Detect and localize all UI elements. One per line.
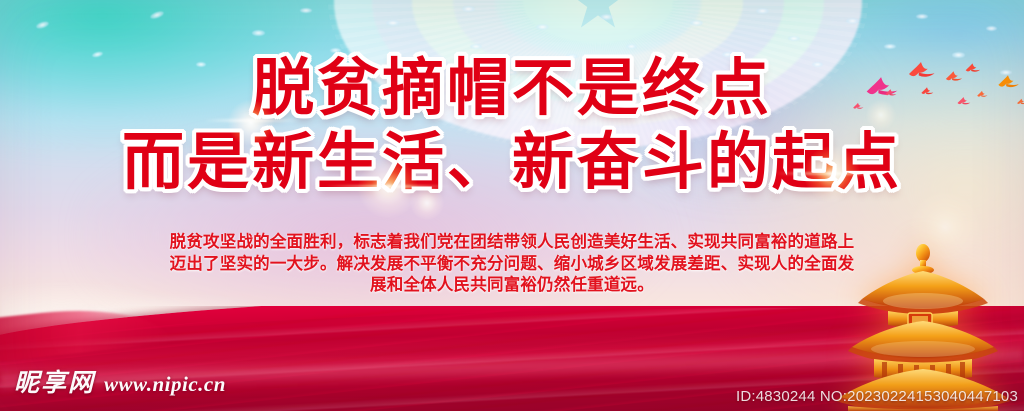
image-id-tag: ID:4830244 NO:20230224153040447103 xyxy=(736,388,1018,405)
star-icon xyxy=(569,0,627,30)
title-line-1: 脱贫摘帽不是终点 xyxy=(0,58,1024,120)
title-line-1-text: 脱贫摘帽不是终点 xyxy=(252,54,772,123)
body-paragraph: 脱贫攻坚战的全面胜利，标志着我们党在团结带领人民创造美好生活、实现共同富裕的道路… xyxy=(112,232,912,297)
poster-canvas: 脱贫摘帽不是终点 而是新生活、新奋斗的起点 脱贫攻坚战的全面胜利，标志着我们党在… xyxy=(0,0,1024,411)
watermark-logo: 昵享网 xyxy=(14,363,95,399)
title-line-2: 而是新生活、新奋斗的起点 xyxy=(0,132,1024,194)
body-line: 迈出了坚实的一大步。解决发展不平衡不充分问题、缩小城乡区域发展差距、实现人的全面… xyxy=(112,254,912,276)
title-line-2-text: 而是新生活、新奋斗的起点 xyxy=(122,128,902,197)
watermark: 昵享网 www.nipic.cn xyxy=(14,363,226,399)
body-line: 展和全体人民共同富裕仍然任重道远。 xyxy=(112,275,912,297)
body-line: 脱贫攻坚战的全面胜利，标志着我们党在团结带领人民创造美好生活、实现共同富裕的道路… xyxy=(112,232,912,254)
title-block: 脱贫摘帽不是终点 而是新生活、新奋斗的起点 xyxy=(0,58,1024,194)
watermark-url: www.nipic.cn xyxy=(104,372,226,397)
